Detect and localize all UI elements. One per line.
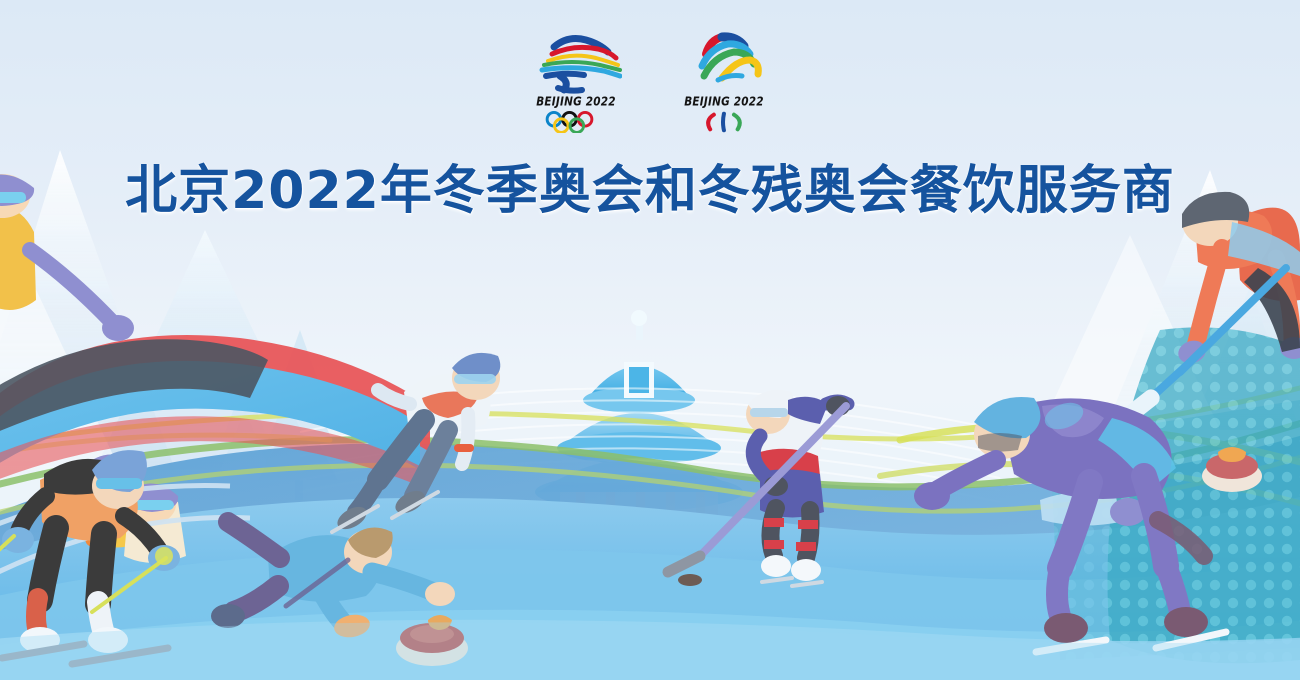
accent-ribbons xyxy=(0,380,1300,520)
speed-skater-purple xyxy=(914,397,1226,652)
ice-hockey-player xyxy=(668,390,850,586)
ice-ribbons xyxy=(0,430,1300,680)
bobsleigh-athlete-3 xyxy=(124,483,186,563)
winter-dream-ribbon-icon xyxy=(530,32,622,94)
olympic-wordmark: BEIJING 2022 xyxy=(536,95,616,109)
ski-poles xyxy=(0,536,166,612)
flying-high-ribbon-icon xyxy=(678,32,770,94)
beijing-2022-catering-banner: BEIJING 2022 xyxy=(0,0,1300,680)
logo-row: BEIJING 2022 xyxy=(0,32,1300,133)
curling-sweeper xyxy=(1040,192,1300,526)
olympic-rings-icon xyxy=(542,111,610,133)
pine-trees xyxy=(220,330,338,500)
bobsleigh-team xyxy=(0,174,430,576)
curling-stone-foreground xyxy=(396,615,468,666)
bobsleigh-athlete-2 xyxy=(76,454,148,547)
paralympic-wordmark: BEIJING 2022 xyxy=(684,95,764,109)
hockey-stick xyxy=(668,406,846,572)
paralympic-logo: BEIJING 2022 xyxy=(676,32,772,133)
hockey-puck xyxy=(678,574,702,586)
temple-of-heaven xyxy=(535,310,743,528)
curling-deliver xyxy=(211,522,468,666)
paralympic-agitos-icon xyxy=(690,111,758,133)
motion-streaks xyxy=(300,388,1000,502)
curling-stone-right xyxy=(1202,447,1262,492)
halftone-pattern xyxy=(1050,327,1300,663)
curling-broom xyxy=(1118,268,1286,427)
olympic-logo: BEIJING 2022 xyxy=(528,32,624,133)
speed-skater-white xyxy=(332,353,500,534)
page-title: 北京2022年冬季奥会和冬残奥会餐饮服务商 xyxy=(0,148,1300,223)
alpine-skier xyxy=(0,450,180,664)
